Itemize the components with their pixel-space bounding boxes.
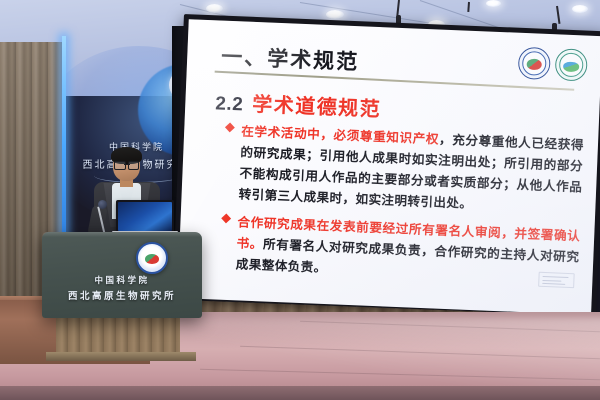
ceiling-pendant xyxy=(396,0,400,16)
ceiling-pendant xyxy=(556,6,560,24)
laptop-screen xyxy=(118,202,172,231)
section-title: 学术道德规范 xyxy=(252,88,382,122)
podium-org-line1: 中国科学院 xyxy=(42,274,202,286)
slide-surface: 一、学术规范 2.2 学术道德规范 在学术活动中，必须尊重知识产权，充分尊重他人… xyxy=(177,19,600,315)
podium-org-line2: 西北高原生物研究所 xyxy=(42,288,202,302)
slide-title: 一、学术规范 xyxy=(221,41,360,77)
ceiling-downlight xyxy=(572,5,588,13)
bullet-item: 在学术活动中，必须尊重知识产权，充分尊重他人已经获得的研究成果；引用他人成果时如… xyxy=(223,121,584,220)
bullet-text: 在学术活动中，必须尊重知识产权，充分尊重他人已经获得的研究成果；引用他人成果时如… xyxy=(238,121,584,219)
projection-screen: 一、学术规范 2.2 学术道德规范 在学术活动中，必须尊重知识产权，充分尊重他人… xyxy=(172,14,600,331)
nwipb-logo xyxy=(555,48,588,81)
lecture-hall-photo: 中国科学院 西北高原生物研究所 一、学术规范 2.2 学术道德规范 在学术活动中… xyxy=(0,0,600,400)
bullet-item: 合作研究成果在发表前要经过所有署名人审阅，并签署确认书。所有署名人对研究成果负责… xyxy=(220,212,580,290)
section-number: 2.2 xyxy=(215,93,244,116)
podium: 中国科学院 西北高原生物研究所 xyxy=(42,232,202,318)
cas-logo xyxy=(518,47,551,80)
laptop xyxy=(116,200,174,233)
slide-bullet-list: 在学术活动中，必须尊重知识产权，充分尊重他人已经获得的研究成果；引用他人成果时如… xyxy=(220,121,584,297)
bullet-rest: 所有署名人对研究成果负责，合作研究的主持人对研究成果整体负责。 xyxy=(235,237,579,275)
bullet-highlight: 在学术活动中，必须尊重知识产权 xyxy=(241,124,439,146)
podium-base xyxy=(56,316,180,354)
ceiling-downlight xyxy=(326,10,344,19)
floor-front-edge xyxy=(0,386,600,400)
eyeglasses-icon xyxy=(114,161,139,168)
ceiling-downlight xyxy=(486,0,501,7)
section-heading: 2.2 学术道德规范 xyxy=(215,86,382,122)
slide-watermark xyxy=(538,272,575,288)
podium-plinth xyxy=(46,352,196,361)
cas-institute-logo xyxy=(136,242,168,274)
slide-logo-group xyxy=(518,47,588,82)
bullet-text: 合作研究成果在发表前要经过所有署名人审阅，并签署确认书。所有署名人对研究成果负责… xyxy=(235,212,580,289)
ceiling-pendant xyxy=(467,2,470,12)
diamond-bullet-icon xyxy=(221,213,231,223)
floor-reflection xyxy=(150,318,600,392)
microphone-icon xyxy=(98,200,107,209)
ceiling-downlight xyxy=(206,4,223,13)
diamond-bullet-icon xyxy=(225,122,235,132)
